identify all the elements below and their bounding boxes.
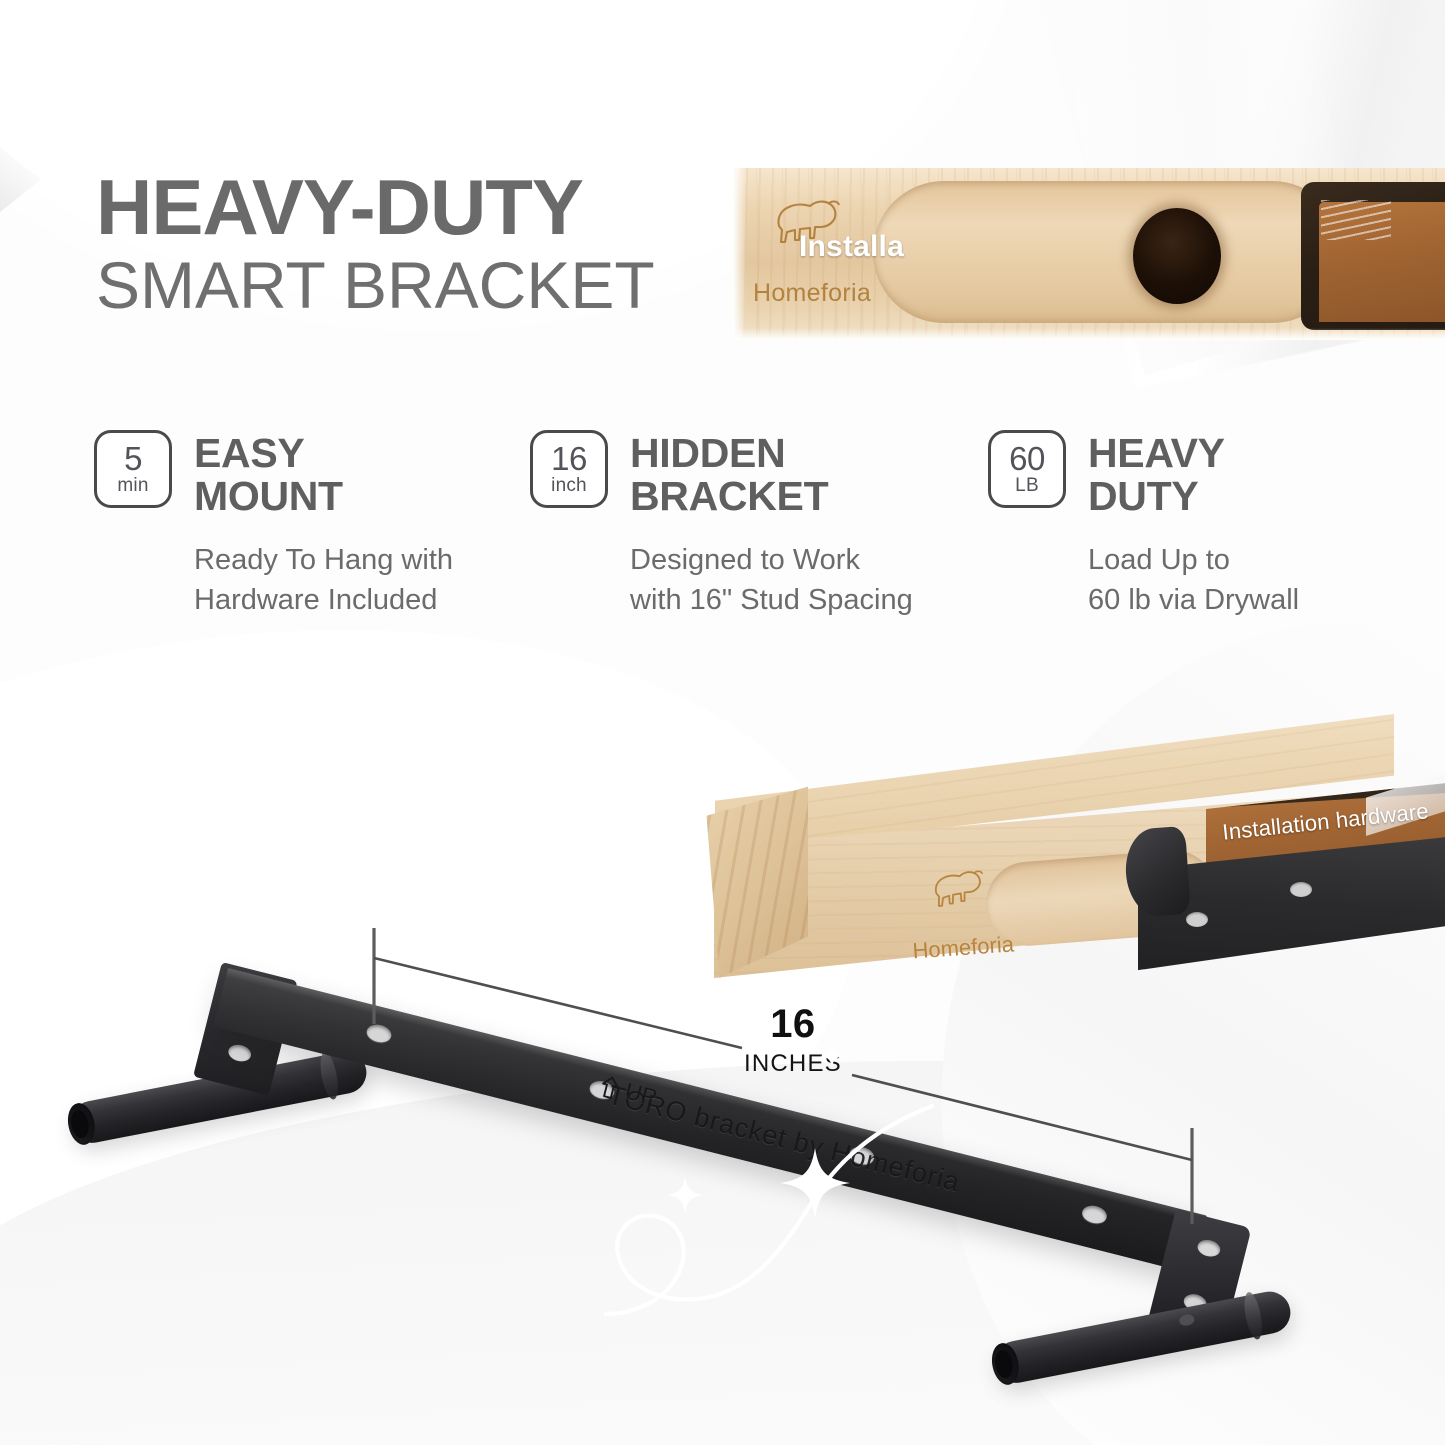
- plate-hole-left-2: [227, 1043, 253, 1064]
- bar-hole-1: [365, 1022, 393, 1045]
- rod-pin-right: [1178, 1313, 1195, 1327]
- bracket-rod-right: [992, 1288, 1295, 1386]
- product-infographic: HEAVY-DUTY SMART BRACKET Homeforia Insta…: [0, 0, 1445, 1445]
- dimension-value: 16: [744, 1004, 842, 1044]
- sparkle-icon-large: [778, 1146, 852, 1220]
- up-arrow-icon: [598, 1074, 622, 1100]
- rod-bore-left: [69, 1109, 91, 1140]
- sparkle-icon-tiny: [820, 1044, 844, 1068]
- plate-hole-right-1: [1196, 1238, 1222, 1259]
- rod-end-cap-left: [65, 1101, 99, 1147]
- rod-end-cap-right: [989, 1341, 1023, 1387]
- bracket-main-bar: TORO bracket by Homeforia UP: [213, 968, 1207, 1274]
- bar-highlight: [226, 968, 1207, 1224]
- sparkle-icon-small: [666, 1176, 704, 1214]
- rod-bore-right: [993, 1349, 1015, 1380]
- rod-collar-left: [317, 1051, 341, 1101]
- bracket-hero-illustration: TORO bracket by Homeforia UP: [0, 0, 1445, 1445]
- bar-hole-4: [1080, 1203, 1108, 1226]
- rod-collar-right: [1241, 1291, 1265, 1341]
